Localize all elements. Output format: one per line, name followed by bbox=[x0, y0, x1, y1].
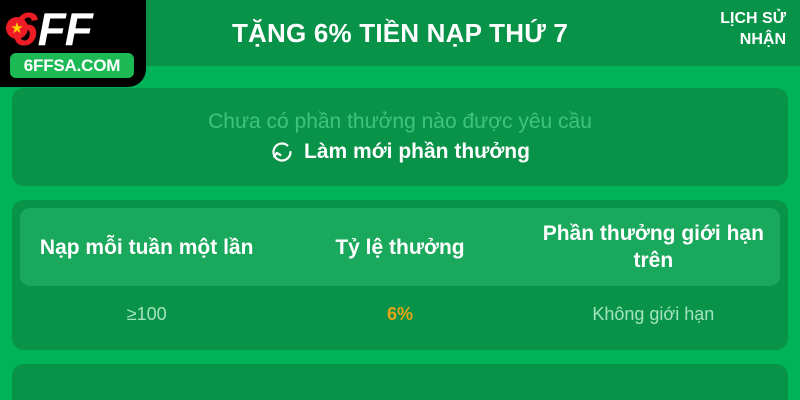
table-header-row: Nạp mỗi tuần một lần Tỷ lệ thưởng Phần t… bbox=[20, 208, 780, 286]
vietnam-star-icon: ★ bbox=[6, 17, 28, 39]
brand-logo[interactable]: 6 FF ★ 6FFSA.COM bbox=[0, 0, 146, 87]
history-label-line2: NHẬN bbox=[666, 29, 786, 50]
empty-reward-message: Chưa có phần thưởng nào được yêu cầu bbox=[208, 110, 592, 134]
column-header-rate: Tỷ lệ thưởng bbox=[273, 234, 526, 261]
refresh-rewards-label: Làm mới phần thưởng bbox=[304, 140, 530, 164]
page-title: TẶNG 6% TIỀN NẠP THỨ 7 bbox=[150, 0, 650, 66]
column-header-deposit: Nạp mỗi tuần một lần bbox=[20, 234, 273, 261]
cell-deposit-amount: ≥100 bbox=[20, 303, 273, 325]
history-label-line1: LỊCH SỬ bbox=[666, 8, 786, 29]
column-header-limit: Phần thưởng giới hạn trên bbox=[527, 220, 780, 274]
history-button[interactable]: LỊCH SỬ NHẬN bbox=[666, 8, 786, 50]
cell-bonus-rate: 6% bbox=[273, 303, 526, 325]
logo-domain-badge: 6FFSA.COM bbox=[10, 53, 134, 78]
table-row: ≥100 6% Không giới hạn bbox=[20, 286, 780, 342]
reward-table-panel: Nạp mỗi tuần một lần Tỷ lệ thưởng Phần t… bbox=[12, 200, 788, 350]
next-section-panel bbox=[12, 364, 788, 400]
cell-bonus-limit: Không giới hạn bbox=[527, 303, 780, 325]
refresh-rewards-button[interactable]: Làm mới phần thưởng bbox=[270, 140, 530, 164]
reward-notice-panel: Chưa có phần thưởng nào được yêu cầu Làm… bbox=[12, 88, 788, 186]
logo-ff-characters: FF bbox=[38, 6, 92, 52]
refresh-icon bbox=[270, 140, 294, 164]
